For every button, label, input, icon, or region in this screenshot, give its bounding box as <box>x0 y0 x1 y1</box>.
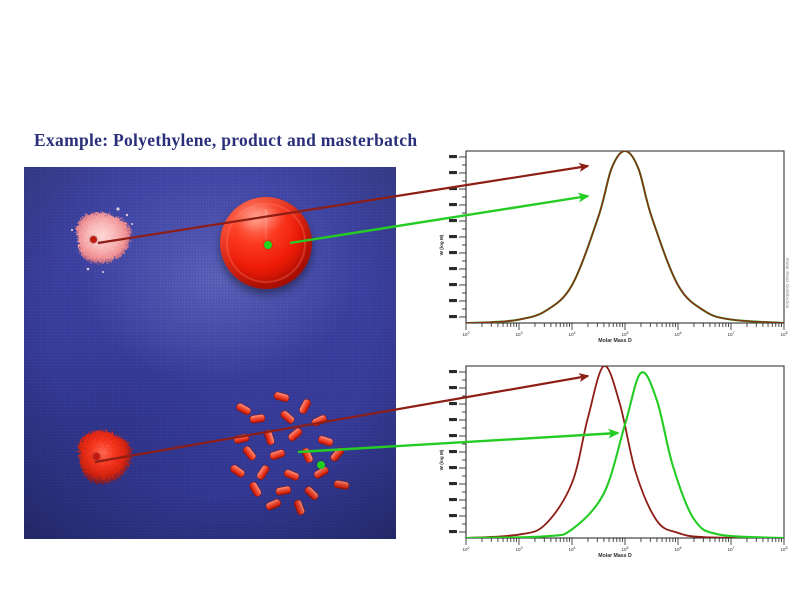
chart-top-xlabel: Molar Mass D <box>598 338 632 344</box>
chart-top-x-axis: 102103104105106107108 <box>462 323 787 337</box>
svg-text:107: 107 <box>727 546 734 552</box>
svg-text:105: 105 <box>621 546 628 552</box>
edge-annotation: Molar Mass Distribution <box>785 258 790 308</box>
chart-top-y-axis <box>459 151 466 323</box>
chart-bottom-x-axis: 102103104105106107108 <box>462 538 787 552</box>
chart-bottom-xlabel: Molar Mass D <box>598 553 632 559</box>
chart-bottom-y-ticklabels <box>449 370 457 533</box>
charts-and-arrows-overlay: W (log M) 102103104105106107108 Molar Ma… <box>0 0 800 600</box>
svg-text:104: 104 <box>568 331 575 337</box>
svg-text:108: 108 <box>780 546 787 552</box>
svg-text:103: 103 <box>515 331 522 337</box>
chart-bottom-ylabel: W (log M) <box>439 449 444 470</box>
svg-text:107: 107 <box>727 331 734 337</box>
chart-top-y-ticklabels <box>449 155 457 318</box>
svg-text:102: 102 <box>462 331 469 337</box>
svg-text:103: 103 <box>515 546 522 552</box>
slide-canvas: Example: Polyethylene, product and maste… <box>0 0 800 600</box>
svg-text:104: 104 <box>568 546 575 552</box>
chart-bottom: W (log M) 102103104105106107108 Molar Ma… <box>439 366 788 559</box>
chart-bottom-y-axis <box>459 366 466 538</box>
svg-text:108: 108 <box>780 331 787 337</box>
svg-text:106: 106 <box>674 331 681 337</box>
svg-text:102: 102 <box>462 546 469 552</box>
chart-top-ylabel: W (log M) <box>439 234 444 255</box>
svg-text:105: 105 <box>621 331 628 337</box>
svg-text:106: 106 <box>674 546 681 552</box>
chart-top: W (log M) 102103104105106107108 Molar Ma… <box>439 151 788 344</box>
